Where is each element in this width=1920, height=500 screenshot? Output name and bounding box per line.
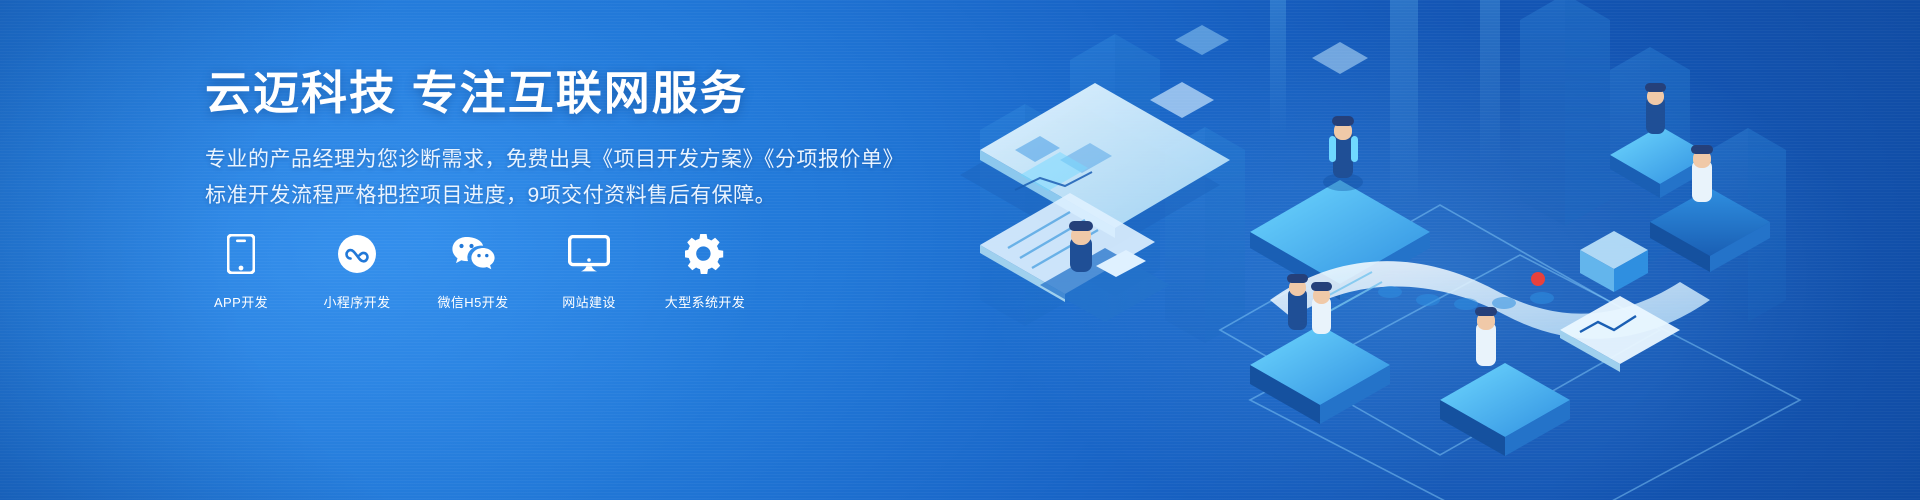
service-label-large-system: 大型系统开发	[665, 292, 745, 311]
hero-subtitle-line-2: 标准开发流程严格把控项目进度，9项交付资料售后有保障。	[205, 178, 965, 214]
service-label-wechat-h5: 微信H5开发	[437, 292, 508, 311]
page-title: 云迈科技 专注互联网服务	[205, 66, 965, 120]
service-label-app: APP开发	[214, 292, 268, 311]
service-label-website: 网站建设	[562, 292, 616, 311]
hero-banner: 云迈科技 专注互联网服务 专业的产品经理为您诊断需求，免费出具《项目开发方案》《…	[0, 0, 1920, 500]
gear-icon	[685, 232, 725, 276]
mobile-phone-icon	[227, 232, 255, 276]
service-item-app[interactable]: APP开发	[205, 232, 277, 311]
service-list: APP开发 小程序开发 微信	[205, 232, 741, 311]
monitor-icon	[568, 232, 610, 276]
service-item-website[interactable]: 网站建设	[553, 232, 625, 311]
service-label-mini-program: 小程序开发	[323, 292, 390, 311]
isometric-illustration	[920, 0, 1920, 500]
service-item-mini-program[interactable]: 小程序开发	[321, 232, 393, 311]
hero-copy: 云迈科技 专注互联网服务 专业的产品经理为您诊断需求，免费出具《项目开发方案》《…	[205, 66, 965, 214]
wechat-icon	[450, 232, 496, 276]
hero-subtitle-line-1: 专业的产品经理为您诊断需求，免费出具《项目开发方案》《分项报价单》	[205, 142, 965, 178]
mini-program-icon	[337, 232, 377, 276]
service-item-large-system[interactable]: 大型系统开发	[669, 232, 741, 311]
hero-subtitle: 专业的产品经理为您诊断需求，免费出具《项目开发方案》《分项报价单》 标准开发流程…	[205, 142, 965, 214]
service-item-wechat-h5[interactable]: 微信H5开发	[437, 232, 509, 311]
